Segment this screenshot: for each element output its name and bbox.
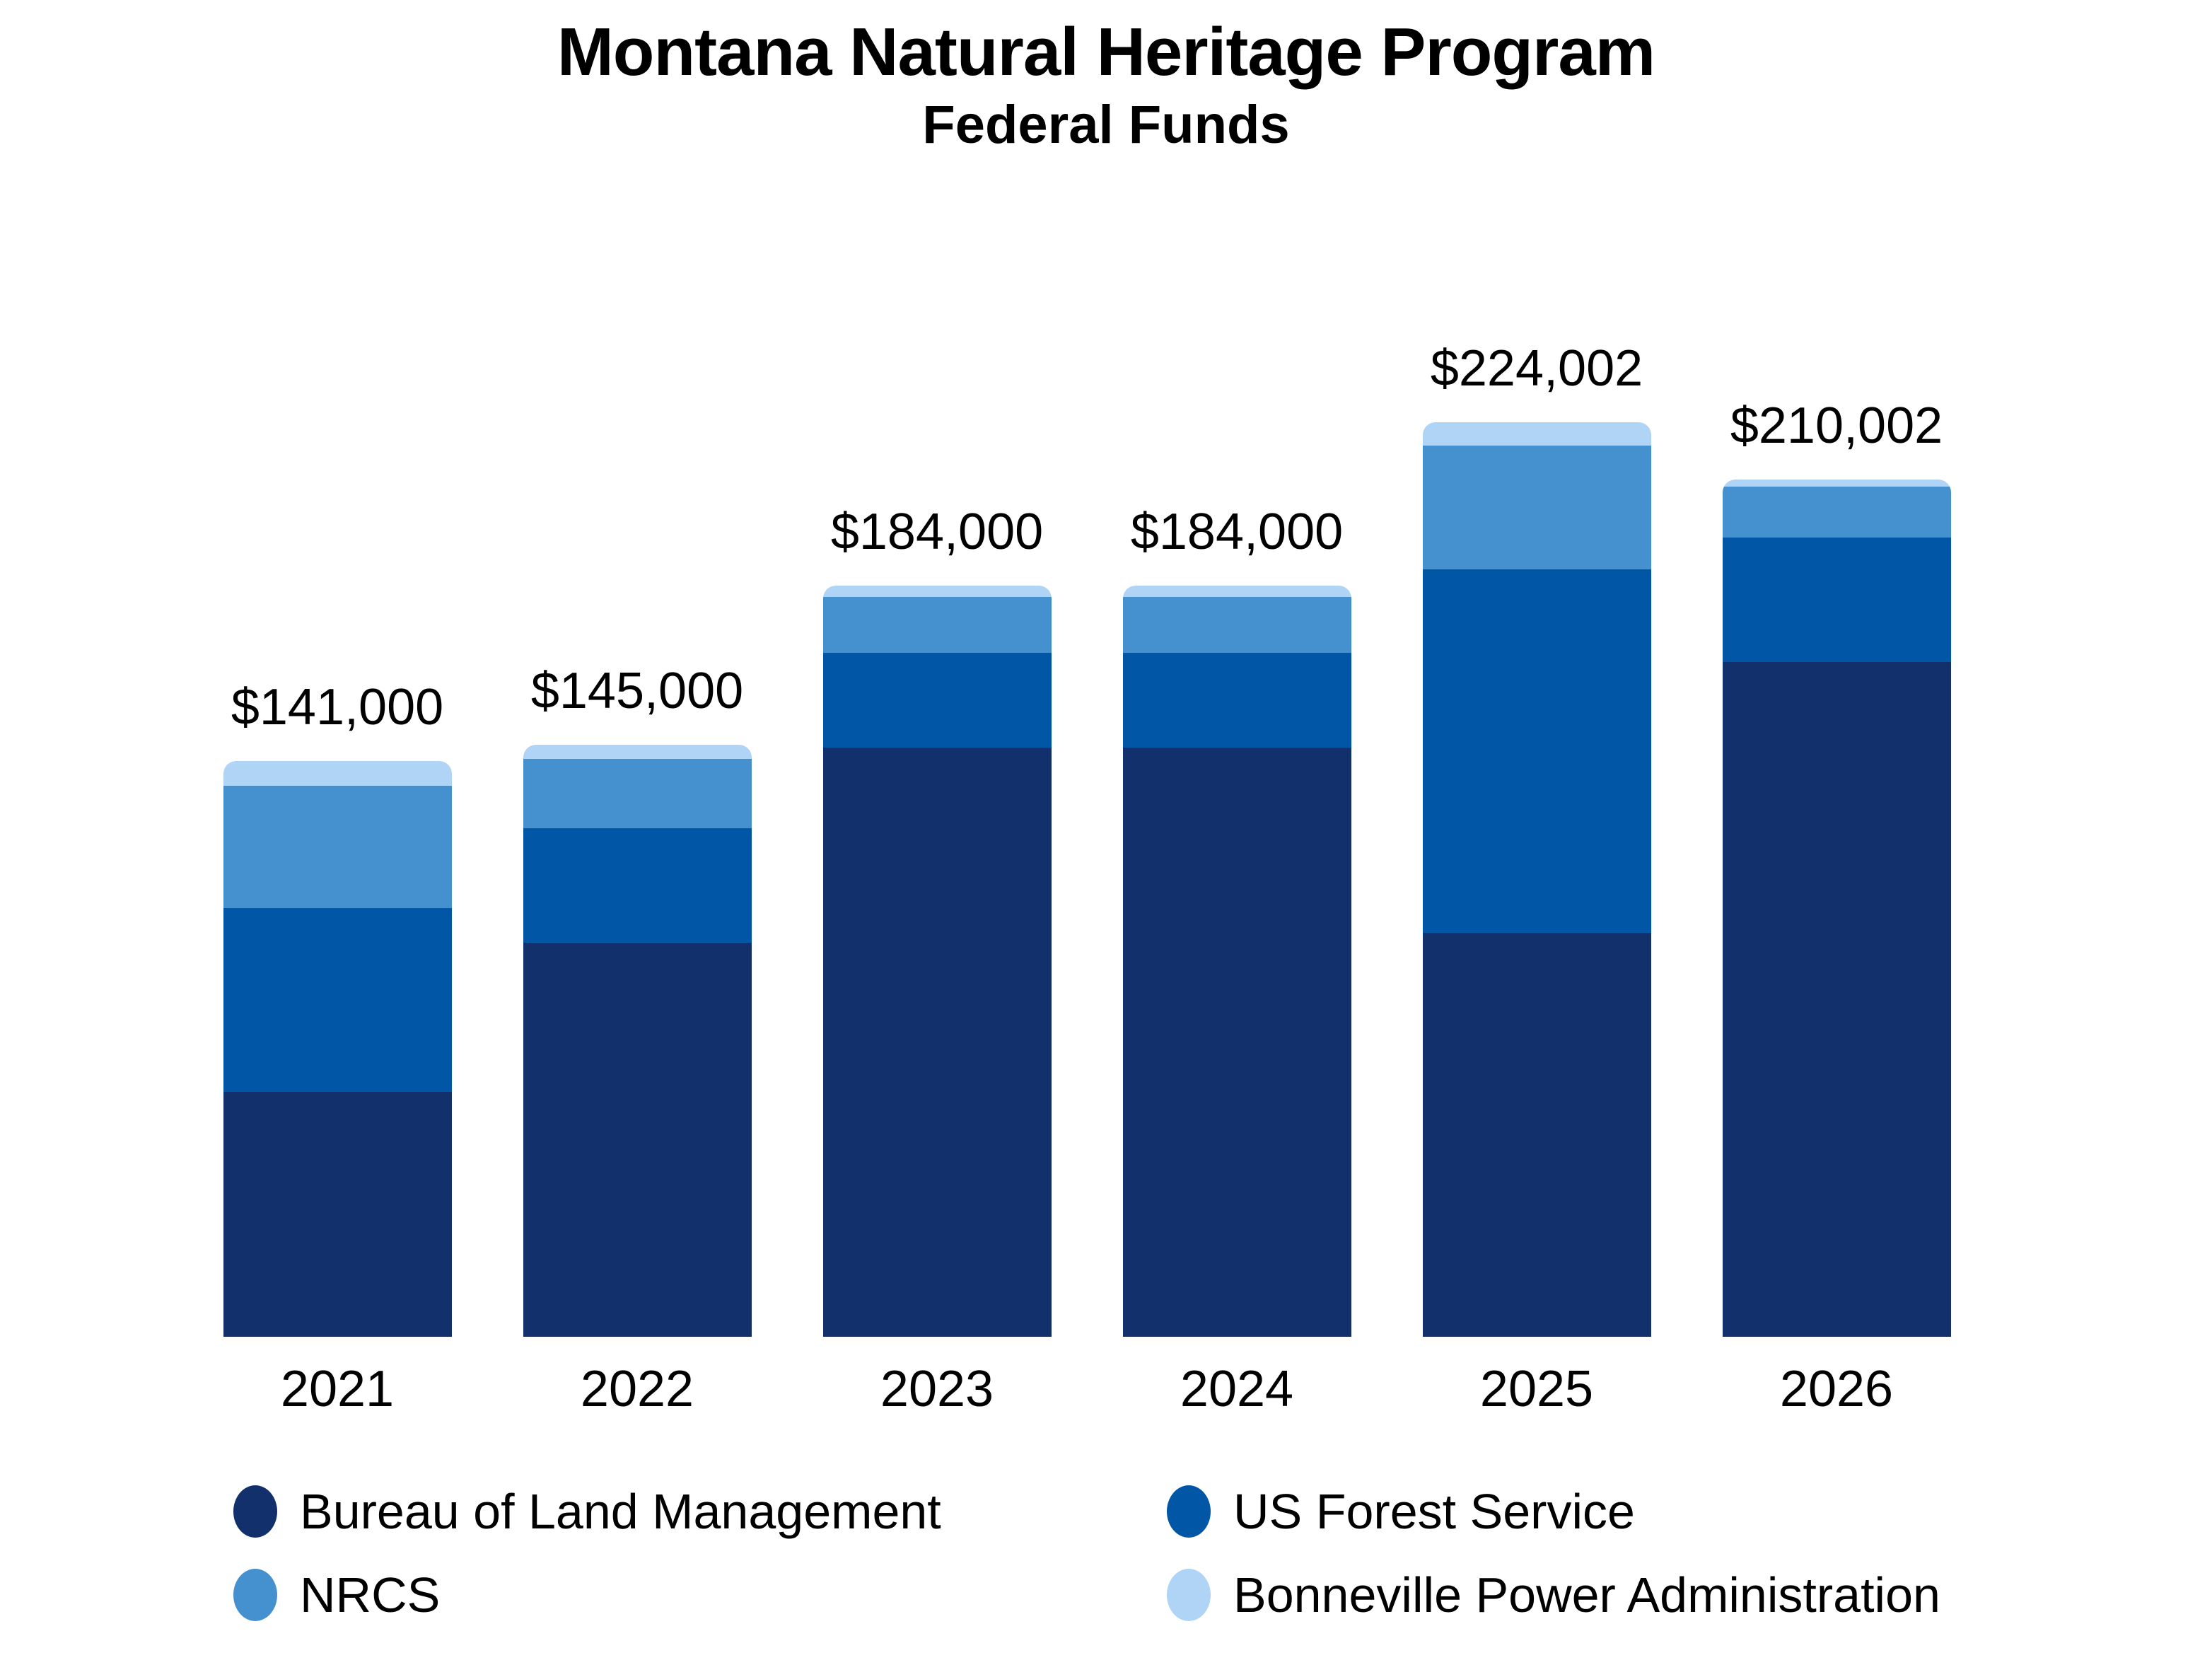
- bar-segment-nrcs-2021[interactable]: [223, 786, 452, 908]
- bar-group-2022[interactable]: [523, 745, 752, 1337]
- bar-segment-nrcs-2023[interactable]: [823, 597, 1052, 653]
- legend-label-usfs: US Forest Service: [1233, 1487, 1635, 1536]
- bar-group-2025[interactable]: [1423, 422, 1651, 1337]
- bar-stack-2021: [223, 761, 452, 1337]
- bar-segment-blm-2024[interactable]: [1123, 748, 1351, 1337]
- bar-value-label-2025: $224,002: [1431, 343, 1643, 394]
- x-axis-label-2023: 2023: [880, 1364, 994, 1415]
- bar-segment-bpa-2022[interactable]: [523, 745, 752, 759]
- chart-page: Montana Natural Heritage Program Federal…: [0, 0, 2212, 1660]
- bar-segment-usfs-2023[interactable]: [823, 653, 1052, 748]
- bar-segment-bpa-2021[interactable]: [223, 761, 452, 786]
- bar-segment-usfs-2026[interactable]: [1723, 538, 1951, 662]
- legend-item-blm[interactable]: Bureau of Land Management: [233, 1485, 1167, 1538]
- bar-segment-usfs-2021[interactable]: [223, 908, 452, 1092]
- chart-legend: Bureau of Land Management US Forest Serv…: [233, 1470, 2044, 1637]
- bar-segment-blm-2025[interactable]: [1423, 933, 1651, 1337]
- bar-group-2024[interactable]: [1123, 586, 1351, 1337]
- bar-stack-2024: [1123, 586, 1351, 1337]
- bar-stack-2026: [1723, 480, 1951, 1337]
- x-axis-label-2025: 2025: [1480, 1364, 1593, 1415]
- bar-group-2021[interactable]: [223, 761, 452, 1337]
- bar-group-2023[interactable]: [823, 586, 1052, 1337]
- legend-item-usfs[interactable]: US Forest Service: [1167, 1485, 2044, 1538]
- legend-swatch-nrcs-icon: [233, 1569, 277, 1621]
- bar-stack-2025: [1423, 422, 1651, 1337]
- bar-value-label-2023: $184,000: [831, 506, 1043, 557]
- bar-value-label-2026: $210,002: [1730, 400, 1943, 451]
- bar-segment-nrcs-2026[interactable]: [1723, 487, 1951, 538]
- bar-segment-blm-2021[interactable]: [223, 1092, 452, 1337]
- bar-segment-nrcs-2024[interactable]: [1123, 597, 1351, 653]
- x-axis-label-2026: 2026: [1780, 1364, 1893, 1415]
- bar-segment-blm-2023[interactable]: [823, 748, 1052, 1337]
- legend-swatch-bpa-icon: [1167, 1569, 1211, 1621]
- bar-value-label-2024: $184,000: [1131, 506, 1343, 557]
- legend-label-blm: Bureau of Land Management: [300, 1487, 941, 1536]
- bar-segment-nrcs-2025[interactable]: [1423, 446, 1651, 569]
- bar-segment-usfs-2022[interactable]: [523, 828, 752, 943]
- legend-label-bpa: Bonneville Power Administration: [1233, 1570, 1940, 1620]
- bar-stack-2022: [523, 745, 752, 1337]
- bar-segment-blm-2022[interactable]: [523, 943, 752, 1337]
- bar-segment-bpa-2024[interactable]: [1123, 586, 1351, 597]
- legend-label-nrcs: NRCS: [300, 1570, 440, 1620]
- bar-segment-nrcs-2022[interactable]: [523, 759, 752, 828]
- x-axis-label-2021: 2021: [281, 1364, 394, 1415]
- legend-swatch-usfs-icon: [1167, 1485, 1211, 1538]
- bar-segment-bpa-2023[interactable]: [823, 586, 1052, 597]
- bar-segment-usfs-2024[interactable]: [1123, 653, 1351, 748]
- bar-value-label-2021: $141,000: [231, 682, 443, 733]
- legend-item-bpa[interactable]: Bonneville Power Administration: [1167, 1569, 2044, 1621]
- bar-value-label-2022: $145,000: [531, 666, 743, 716]
- bar-segment-bpa-2026[interactable]: [1723, 480, 1951, 487]
- bar-segment-blm-2026[interactable]: [1723, 662, 1951, 1337]
- x-axis-label-2022: 2022: [581, 1364, 694, 1415]
- legend-item-nrcs[interactable]: NRCS: [233, 1569, 1167, 1621]
- bar-segment-bpa-2025[interactable]: [1423, 422, 1651, 446]
- legend-swatch-blm-icon: [233, 1485, 277, 1538]
- bar-stack-2023: [823, 586, 1052, 1337]
- plot-area: $141,0002021$145,0002022$184,0002023$184…: [0, 0, 2212, 1660]
- bar-group-2026[interactable]: [1723, 480, 1951, 1337]
- x-axis-label-2024: 2024: [1180, 1364, 1293, 1415]
- bar-segment-usfs-2025[interactable]: [1423, 569, 1651, 933]
